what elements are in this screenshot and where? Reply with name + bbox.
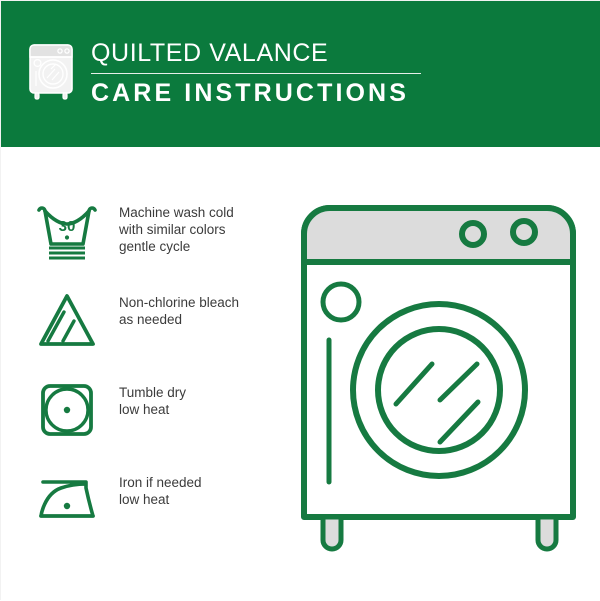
care-text-line: Tumble dry: [119, 384, 186, 401]
care-instructions-card: QUILTED VALANCE CARE INSTRUCTIONS 30: [0, 0, 600, 600]
title-block: QUILTED VALANCE CARE INSTRUCTIONS: [91, 39, 421, 106]
care-row: Tumble dry low heat: [29, 377, 279, 467]
care-text-line: low heat: [119, 401, 186, 418]
wash-temperature-label: 30: [59, 218, 76, 235]
page-title: QUILTED VALANCE: [91, 41, 421, 66]
header-content: QUILTED VALANCE CARE INSTRUCTIONS: [25, 39, 421, 106]
machine-foot: [538, 517, 556, 549]
tumble-dry-icon: [29, 377, 105, 443]
care-row: 30 Machine wash cold with similar colors…: [29, 197, 279, 287]
care-instruction-list: 30 Machine wash cold with similar colors…: [29, 197, 279, 557]
machine-wash-icon: 30: [29, 197, 105, 263]
title-divider: [91, 73, 421, 74]
care-text-line: Iron if needed: [119, 474, 202, 491]
care-text: Tumble dry low heat: [119, 377, 186, 418]
page-subtitle: CARE INSTRUCTIONS: [91, 81, 421, 106]
care-text-line: as needed: [119, 311, 239, 328]
care-text-line: low heat: [119, 491, 202, 508]
content-area: 30 Machine wash cold with similar colors…: [1, 147, 600, 601]
care-row: Iron if needed low heat: [29, 467, 279, 557]
care-text: Machine wash cold with similar colors ge…: [119, 197, 234, 255]
care-text-line: gentle cycle: [119, 238, 234, 255]
care-text-line: Machine wash cold: [119, 204, 234, 221]
care-text: Non-chlorine bleach as needed: [119, 287, 239, 328]
iron-icon: [29, 467, 105, 533]
care-text-line: Non-chlorine bleach: [119, 294, 239, 311]
washing-machine-icon: [25, 41, 77, 101]
non-chlorine-bleach-icon: [29, 287, 105, 353]
care-text: Iron if needed low heat: [119, 467, 202, 508]
care-row: Non-chlorine bleach as needed: [29, 287, 279, 377]
care-text-line: with similar colors: [119, 221, 234, 238]
header-banner: QUILTED VALANCE CARE INSTRUCTIONS: [1, 1, 600, 147]
machine-foot: [323, 517, 341, 549]
washing-machine-illustration: [296, 192, 581, 567]
